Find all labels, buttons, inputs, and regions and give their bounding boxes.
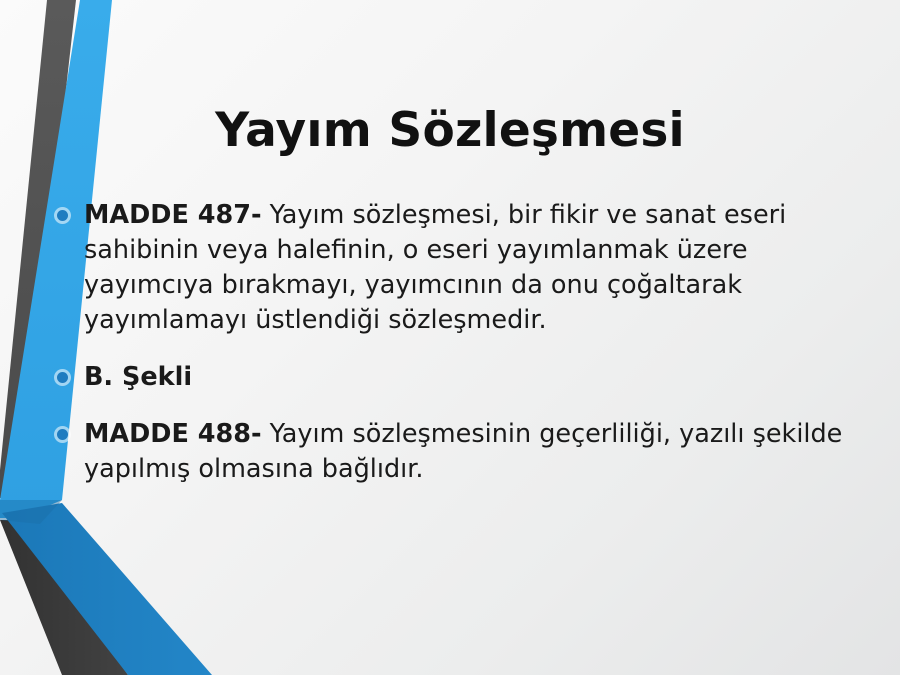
bullet-lead: MADDE 488- [84,419,262,449]
bullet-lead: MADDE 487- [84,200,262,230]
list-item: MADDE 488- Yayım sözleşmesinin geçerlili… [52,417,852,487]
bullet-text: MADDE 488- Yayım sözleşmesinin geçerlili… [84,417,844,487]
bullet-text: MADDE 487- Yayım sözleşmesi, bir fikir v… [84,198,844,338]
bullet-dot-icon [57,210,68,221]
bullet-text: B. Şekli [84,360,844,395]
bullet-dot-icon [57,372,68,383]
bullet-lead: B. Şekli [84,362,192,392]
page-title: Yayım Sözleşmesi [0,104,900,158]
list-item: MADDE 487- Yayım sözleşmesi, bir fikir v… [52,198,852,338]
ribbon-fold-shadow [0,500,62,524]
presentation-slide: Yayım Sözleşmesi MADDE 487- Yayım sözleş… [0,0,900,675]
list-item: B. Şekli [52,360,852,395]
bullet-dot-icon [57,429,68,440]
bullet-list: MADDE 487- Yayım sözleşmesi, bir fikir v… [52,198,852,487]
ribbon-blue-lower [2,503,212,675]
ribbon-gray-lower [0,520,128,675]
